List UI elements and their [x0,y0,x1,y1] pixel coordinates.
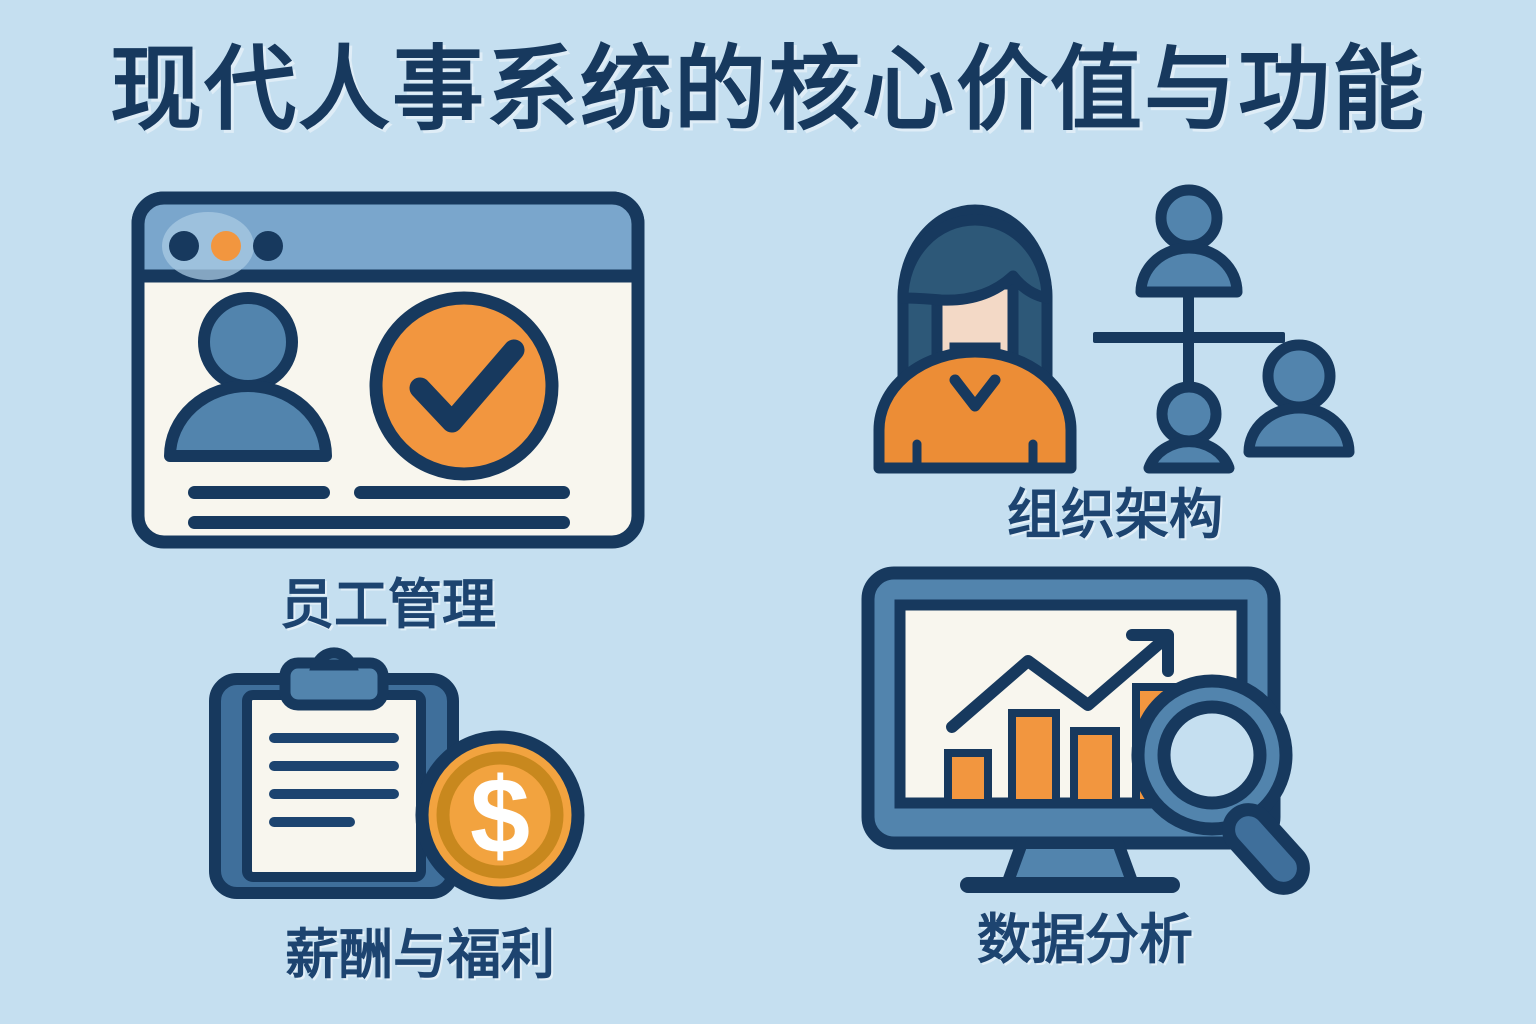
clipboard-coin-icon: $ [205,655,635,905]
window-dot-3 [253,231,283,261]
infographic-canvas: 现代人事系统的核心价值与功能 [0,0,1536,1024]
coin-dollar-symbol: $ [470,755,530,876]
monitor-bar-chart-magnifier-icon [860,565,1310,895]
section-label-organization-structure: 组织架构 [855,470,1375,549]
section-label-employee-management: 员工管理 [128,560,648,639]
browser-window-profile-check-icon [128,190,648,550]
section-data-analysis[interactable]: 数据分析 [860,565,1310,985]
window-dot-2 [211,231,241,261]
person-org-chart-icon [855,180,1375,470]
section-label-compensation-benefits: 薪酬与福利 [205,910,635,989]
page-title: 现代人事系统的核心价值与功能 [0,42,1536,139]
section-compensation-benefits[interactable]: $ 薪酬与福利 [205,655,635,1005]
section-employee-management[interactable]: 员工管理 [128,190,648,660]
window-dot-1 [169,231,199,261]
section-organization-structure[interactable]: 组织架构 [855,180,1375,570]
section-label-data-analysis: 数据分析 [860,895,1310,974]
